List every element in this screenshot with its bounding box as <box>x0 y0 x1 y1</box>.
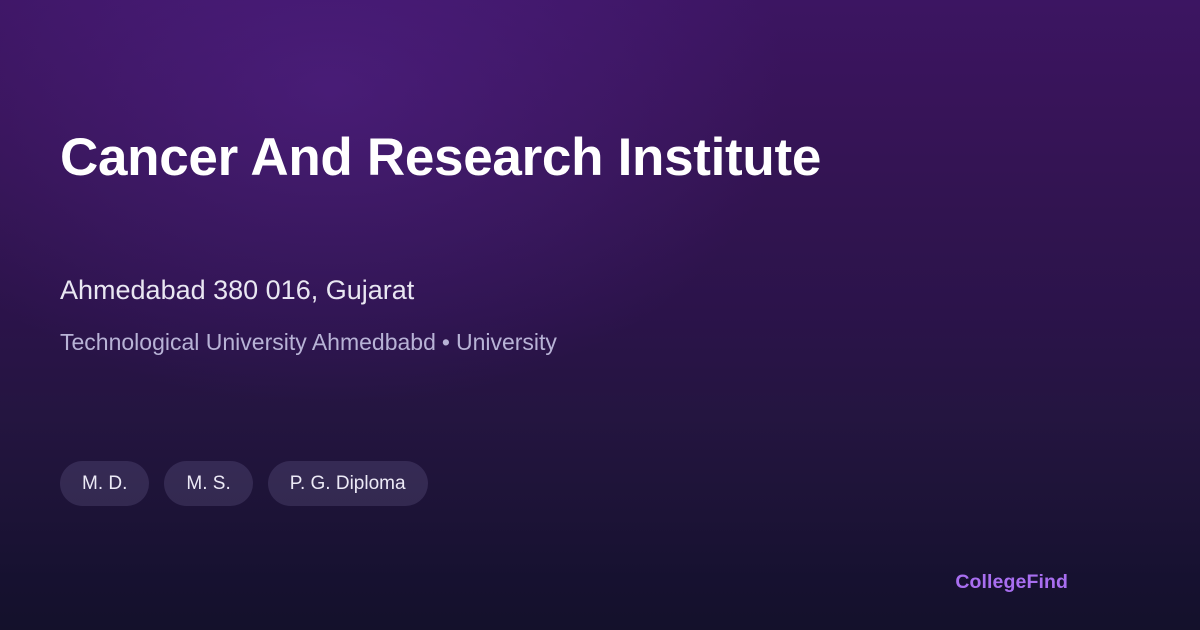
brand-wordmark: CollegeFind <box>955 570 1068 594</box>
affiliation-university: Technological University Ahmedbabd <box>60 329 436 355</box>
affiliation-type: University <box>456 329 557 355</box>
program-tag-list: M. D. M. S. P. G. Diploma <box>60 461 428 506</box>
page-title: Cancer And Research Institute <box>60 126 821 190</box>
program-tag[interactable]: M. D. <box>60 461 149 506</box>
card-content: Cancer And Research Institute Ahmedabad … <box>60 0 1140 630</box>
program-tag[interactable]: P. G. Diploma <box>268 461 428 506</box>
og-preview-card: Cancer And Research Institute Ahmedabad … <box>0 0 1200 630</box>
institute-affiliation: Technological University Ahmedbabd•Unive… <box>60 326 557 358</box>
institute-location: Ahmedabad 380 016, Gujarat <box>60 272 414 308</box>
program-tag[interactable]: M. S. <box>164 461 252 506</box>
affiliation-separator-bullet: • <box>436 329 456 355</box>
